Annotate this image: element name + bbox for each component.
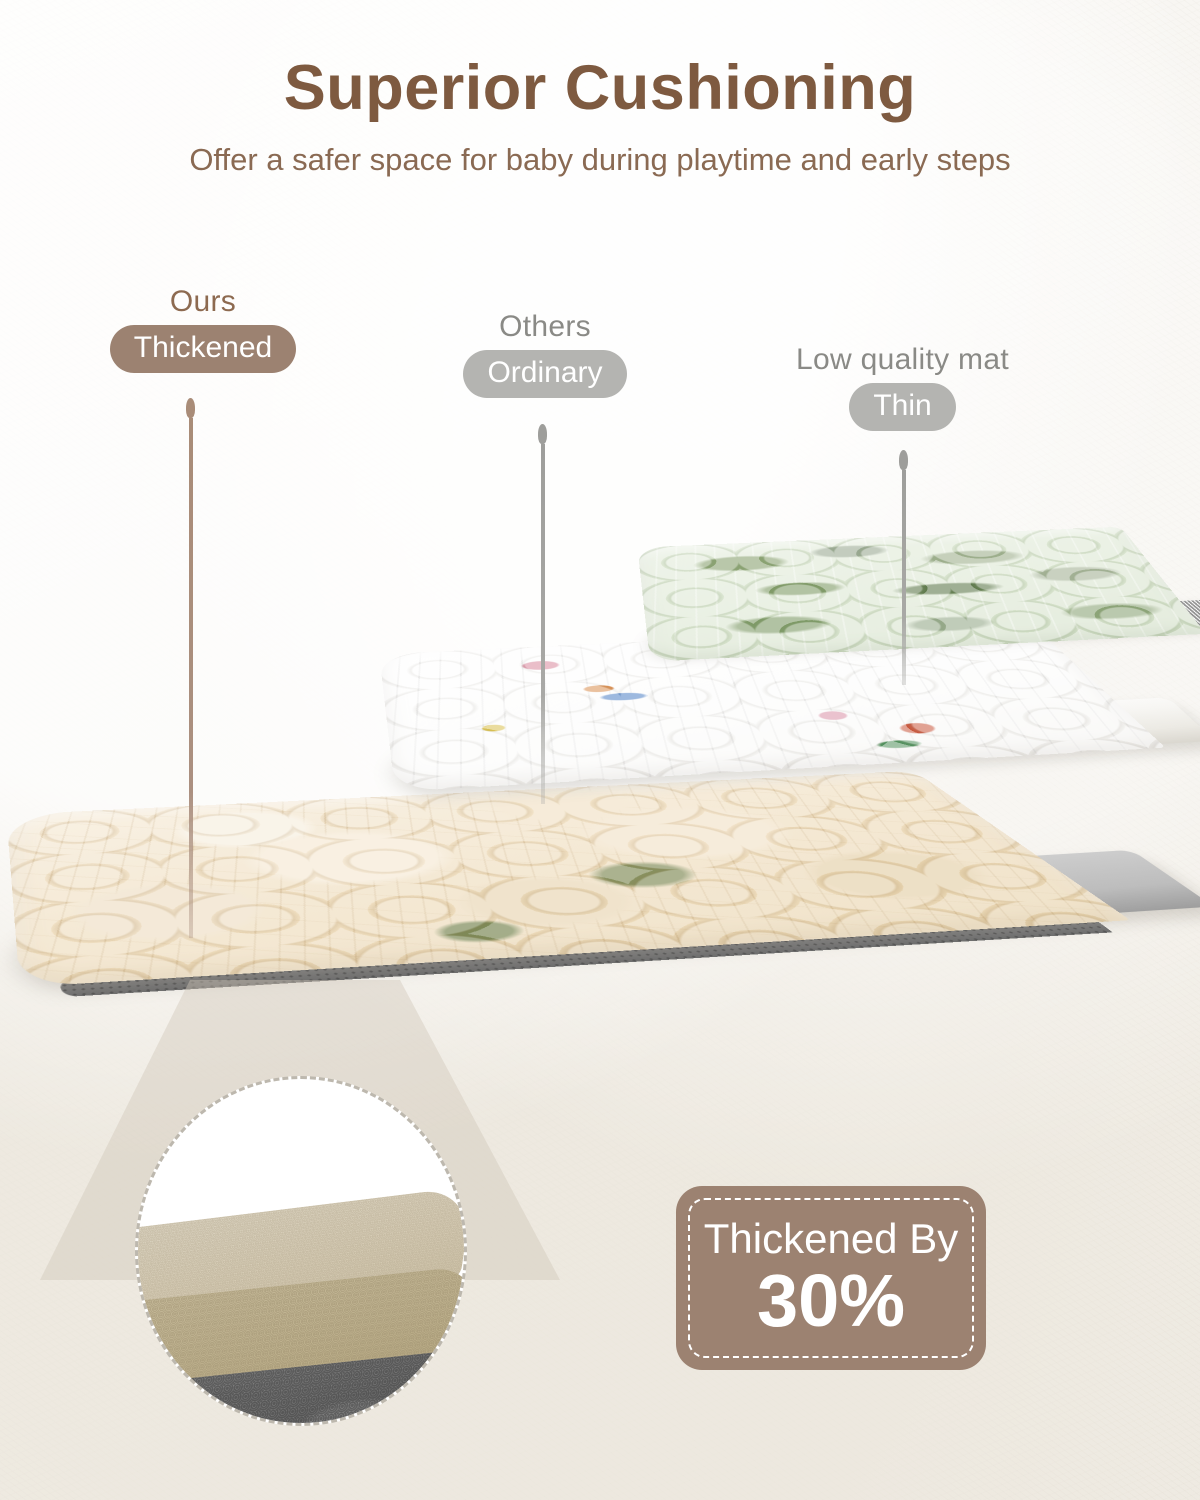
pin-head-icon: [186, 398, 195, 418]
callout-others-pill: Ordinary: [463, 350, 626, 398]
layer-cutaway-inset: [135, 1076, 467, 1426]
header: Superior Cushioning Offer a safer space …: [0, 0, 1200, 178]
measurement-pin-ours: [186, 398, 195, 938]
pin-head-icon: [899, 450, 908, 470]
mat-low-quality-thin: [650, 430, 1200, 730]
mat-low-surface: [637, 527, 1200, 662]
pin-stem: [902, 470, 906, 685]
callout-others-title: Others: [450, 310, 640, 344]
callout-ours: Ours Thickened: [108, 285, 298, 373]
callout-ours-pill: Thickened: [110, 325, 296, 373]
pin-head-icon: [538, 424, 547, 444]
callout-ours-title: Ours: [108, 285, 298, 319]
pin-stem: [189, 418, 193, 938]
page-title: Superior Cushioning: [0, 52, 1200, 124]
badge-label: Thickened By: [704, 1218, 958, 1260]
thickness-badge: Thickened By 30%: [676, 1186, 986, 1370]
pin-stem: [541, 444, 545, 804]
product-photo: [0, 430, 1200, 1070]
callout-low-quality-pill: Thin: [849, 383, 955, 431]
callout-low-quality: Low quality mat Thin: [765, 343, 1040, 431]
measurement-pin-low-quality: [899, 450, 908, 685]
measurement-pin-others: [538, 424, 547, 804]
page-subtitle: Offer a safer space for baby during play…: [0, 142, 1200, 178]
badge-value: 30%: [757, 1264, 905, 1338]
callout-others: Others Ordinary: [450, 310, 640, 398]
callout-low-quality-title: Low quality mat: [765, 343, 1040, 377]
